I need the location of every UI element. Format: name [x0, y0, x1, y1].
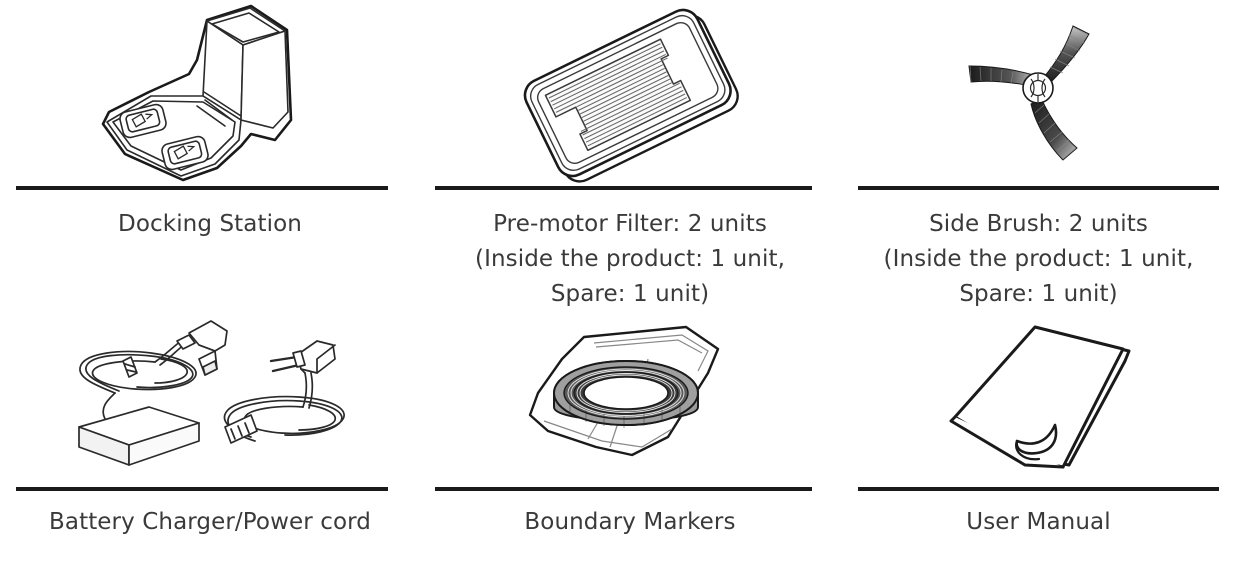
boundary-markers-illustration: [420, 311, 840, 487]
caption-boundary-markers: Boundary Markers: [420, 491, 840, 561]
user-manual-illustration: [840, 311, 1237, 487]
caption-pre-motor-filter: Pre-motor Filter: 2 units (Inside the pr…: [420, 190, 840, 311]
pre-motor-filter-illustration: [420, 0, 840, 186]
content-item-pre-motor-filter: Pre-motor Filter: 2 units (Inside the pr…: [420, 0, 840, 311]
package-contents-grid: Docking Station: [0, 0, 1237, 561]
battery-charger-illustration: [0, 311, 420, 487]
docking-station-illustration: [0, 0, 420, 186]
caption-user-manual: User Manual: [840, 491, 1237, 561]
content-item-docking-station: Docking Station: [0, 0, 420, 311]
content-item-user-manual: User Manual: [840, 311, 1237, 561]
caption-docking-station: Docking Station: [0, 190, 420, 311]
caption-battery-charger: Battery Charger/Power cord: [0, 491, 420, 561]
caption-side-brush: Side Brush: 2 units (Inside the product:…: [840, 190, 1237, 311]
content-item-battery-charger: Battery Charger/Power cord: [0, 311, 420, 561]
content-item-side-brush: Side Brush: 2 units (Inside the product:…: [840, 0, 1237, 311]
content-item-boundary-markers: Boundary Markers: [420, 311, 840, 561]
side-brush-illustration: [840, 0, 1237, 186]
